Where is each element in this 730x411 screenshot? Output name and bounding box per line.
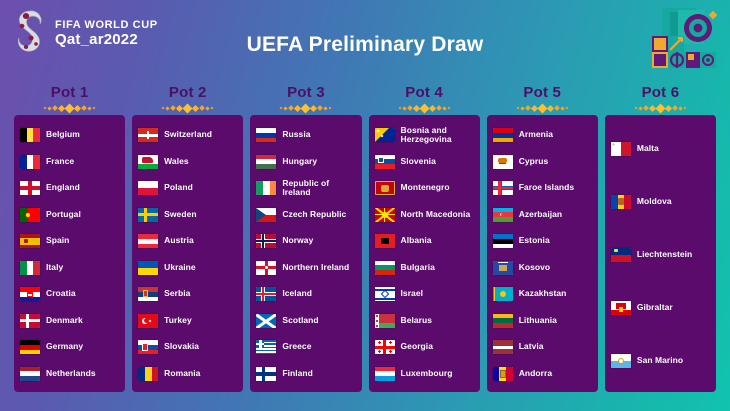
pot-column-1: Pot 1 Belgium France England Portugal Sp… [14, 84, 125, 392]
flag-liechtenstein-icon [611, 248, 631, 262]
flag-kazakhstan-icon [493, 287, 513, 301]
list-item[interactable]: Scotland [256, 308, 355, 335]
list-item[interactable]: Poland [138, 175, 237, 202]
flag-cyprus-icon [493, 155, 513, 169]
page-title: UEFA Preliminary Draw [0, 33, 730, 57]
pot-column-3: Pot 3 Russia Hungary Republic of Ireland… [250, 84, 361, 392]
pot-divider-dots-3 [250, 101, 361, 115]
pot-divider-dots-1 [14, 101, 125, 115]
list-item[interactable]: North Macedonia [375, 202, 474, 229]
flag-estonia-icon [493, 234, 513, 248]
list-item[interactable]: Croatia [20, 281, 119, 308]
pot-divider-dots-5 [487, 101, 598, 115]
flag-portugal-icon [20, 208, 40, 222]
list-item[interactable]: Lithuania [493, 308, 592, 335]
flag-luxembourg-icon [375, 367, 395, 381]
flag-bosnia-and-herzegovina-icon [375, 128, 395, 142]
list-item[interactable]: Cyprus [493, 149, 592, 176]
list-item[interactable]: Germany [20, 334, 119, 361]
pot-column-5: Pot 5 Armenia Cyprus Faroe Islands Azerb… [487, 84, 598, 392]
pot-card-5: Armenia Cyprus Faroe Islands Azerbaijan … [487, 115, 598, 392]
pot-column-4: Pot 4 Bosnia and Herzegovina Slovenia Mo… [369, 84, 480, 392]
flag-slovakia-icon [138, 340, 158, 354]
list-item[interactable]: Belarus [375, 308, 474, 335]
list-item[interactable]: Azerbaijan [493, 202, 592, 229]
list-item[interactable]: Netherlands [20, 361, 119, 388]
flag-wales-icon [138, 155, 158, 169]
list-item[interactable]: Kosovo [493, 255, 592, 282]
flag-republic-of-ireland-icon [256, 181, 276, 195]
list-item[interactable]: Portugal [20, 202, 119, 229]
list-item[interactable]: Belgium [20, 122, 119, 149]
list-item[interactable]: Greece [256, 334, 355, 361]
list-item[interactable]: Norway [256, 228, 355, 255]
flag-iceland-icon [256, 287, 276, 301]
list-item[interactable]: Latvia [493, 334, 592, 361]
list-item[interactable]: Slovenia [375, 149, 474, 176]
list-item[interactable]: Faroe Islands [493, 175, 592, 202]
list-item[interactable]: Georgia [375, 334, 474, 361]
flag-bulgaria-icon [375, 261, 395, 275]
flag-serbia-icon [138, 287, 158, 301]
pot-title-2: Pot 2 [132, 84, 243, 101]
pot-title-6: Pot 6 [605, 84, 716, 101]
flag-faroe-islands-icon [493, 181, 513, 195]
flag-andorra-icon [493, 367, 513, 381]
flag-san-marino-icon [611, 354, 631, 368]
list-item[interactable]: Luxembourg [375, 361, 474, 388]
flag-latvia-icon [493, 340, 513, 354]
flag-moldova-icon [611, 195, 631, 209]
list-item[interactable]: San Marino [611, 334, 710, 387]
flag-north-macedonia-icon [375, 208, 395, 222]
list-item[interactable]: Malta [611, 122, 710, 175]
qatar-2022-pattern-football-graphic-icon [648, 2, 722, 72]
list-item[interactable]: Montenegro [375, 175, 474, 202]
list-item[interactable]: Gibraltar [611, 281, 710, 334]
list-item[interactable]: England [20, 175, 119, 202]
page-header: FIFA WORLD CUP Qat_ar2022 UEFA Prelimina… [0, 0, 730, 78]
flag-croatia-icon [20, 287, 40, 301]
flag-czech-republic-icon [256, 208, 276, 222]
list-item[interactable]: Bosnia and Herzegovina [375, 122, 474, 149]
flag-northern-ireland-icon [256, 261, 276, 275]
flag-greece-icon [256, 340, 276, 354]
list-item[interactable]: Albania [375, 228, 474, 255]
flag-belgium-icon [20, 128, 40, 142]
pot-columns: Pot 1 Belgium France England Portugal Sp… [14, 84, 716, 392]
list-item[interactable]: Iceland [256, 281, 355, 308]
pot-card-1: Belgium France England Portugal Spain It… [14, 115, 125, 392]
flag-gibraltar-icon [611, 301, 631, 315]
flag-montenegro-icon [375, 181, 395, 195]
flag-slovenia-icon [375, 155, 395, 169]
flag-switzerland-icon [138, 128, 158, 142]
list-item[interactable]: Kazakhstan [493, 281, 592, 308]
list-item[interactable]: Wales [138, 149, 237, 176]
flag-armenia-icon [493, 128, 513, 142]
flag-austria-icon [138, 234, 158, 248]
flag-italy-icon [20, 261, 40, 275]
list-item[interactable]: Armenia [493, 122, 592, 149]
list-item[interactable]: Turkey [138, 308, 237, 335]
flag-ukraine-icon [138, 261, 158, 275]
list-item[interactable]: Estonia [493, 228, 592, 255]
list-item[interactable]: Italy [20, 255, 119, 282]
pot-divider-dots-4 [369, 101, 480, 115]
flag-spain-icon [20, 234, 40, 248]
flag-germany-icon [20, 340, 40, 354]
pot-column-6: Pot 6 Malta Moldova Liechtenstein Gibral… [605, 84, 716, 392]
flag-albania-icon [375, 234, 395, 248]
pot-card-6: Malta Moldova Liechtenstein Gibraltar Sa… [605, 115, 716, 392]
flag-hungary-icon [256, 155, 276, 169]
list-item[interactable]: Republic of Ireland [256, 175, 355, 202]
flag-belarus-icon [375, 314, 395, 328]
list-item[interactable]: Andorra [493, 361, 592, 388]
pot-title-3: Pot 3 [250, 84, 361, 101]
pot-title-4: Pot 4 [369, 84, 480, 101]
flag-romania-icon [138, 367, 158, 381]
list-item[interactable]: Serbia [138, 281, 237, 308]
list-item[interactable]: Ukraine [138, 255, 237, 282]
list-item[interactable]: Austria [138, 228, 237, 255]
list-item[interactable]: Romania [138, 361, 237, 388]
flag-azerbaijan-icon [493, 208, 513, 222]
pot-title-1: Pot 1 [14, 84, 125, 101]
list-item[interactable]: France [20, 149, 119, 176]
list-item[interactable]: Denmark [20, 308, 119, 335]
pot-card-3: Russia Hungary Republic of Ireland Czech… [250, 115, 361, 392]
list-item[interactable]: Russia [256, 122, 355, 149]
list-item[interactable]: Spain [20, 228, 119, 255]
list-item[interactable]: Slovakia [138, 334, 237, 361]
flag-norway-icon [256, 234, 276, 248]
list-item[interactable]: Israel [375, 281, 474, 308]
flag-kosovo-icon [493, 261, 513, 275]
flag-england-icon [20, 181, 40, 195]
pot-divider-dots-6 [605, 101, 716, 115]
flag-russia-icon [256, 128, 276, 142]
pot-column-2: Pot 2 Switzerland Wales Poland Sweden Au… [132, 84, 243, 392]
flag-malta-icon [611, 142, 631, 156]
flag-georgia-icon [375, 340, 395, 354]
list-item[interactable]: Moldova [611, 175, 710, 228]
list-item[interactable]: Bulgaria [375, 255, 474, 282]
flag-lithuania-icon [493, 314, 513, 328]
pot-card-4: Bosnia and Herzegovina Slovenia Monteneg… [369, 115, 480, 392]
list-item[interactable]: Northern Ireland [256, 255, 355, 282]
flag-scotland-icon [256, 314, 276, 328]
flag-netherlands-icon [20, 367, 40, 381]
pot-divider-dots-2 [132, 101, 243, 115]
flag-turkey-icon [138, 314, 158, 328]
list-item[interactable]: Hungary [256, 149, 355, 176]
list-item[interactable]: Sweden [138, 202, 237, 229]
flag-denmark-icon [20, 314, 40, 328]
pot-card-2: Switzerland Wales Poland Sweden Austria … [132, 115, 243, 392]
flag-israel-icon [375, 287, 395, 301]
list-item[interactable]: Switzerland [138, 122, 237, 149]
flag-poland-icon [138, 181, 158, 195]
flag-sweden-icon [138, 208, 158, 222]
list-item[interactable]: Czech Republic [256, 202, 355, 229]
pot-title-5: Pot 5 [487, 84, 598, 101]
list-item[interactable]: Finland [256, 361, 355, 388]
flag-france-icon [20, 155, 40, 169]
list-item[interactable]: Liechtenstein [611, 228, 710, 281]
flag-finland-icon [256, 367, 276, 381]
